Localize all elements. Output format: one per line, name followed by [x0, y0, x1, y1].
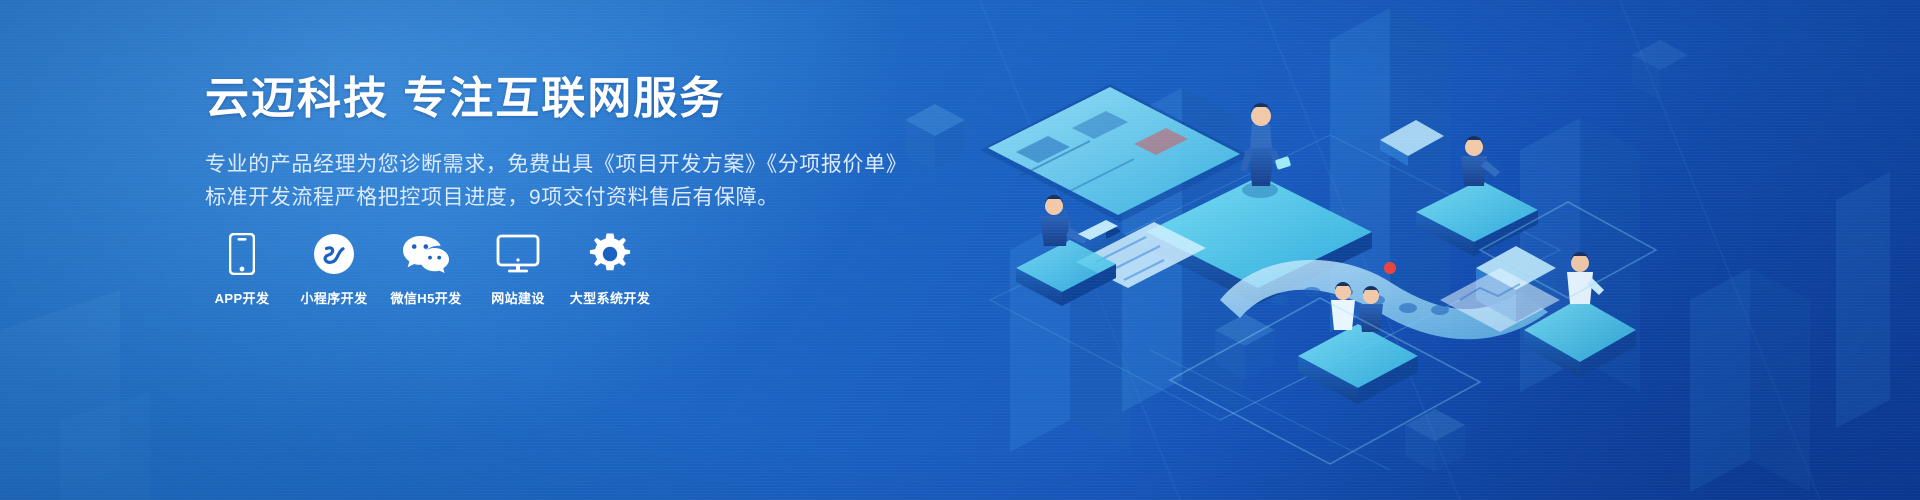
service-label-app: APP开发 — [215, 288, 270, 307]
hero-illustration — [920, 0, 1920, 500]
service-item-app[interactable]: APP开发 — [205, 232, 279, 307]
service-item-website[interactable]: 网站建设 — [481, 232, 555, 307]
service-item-mini-program[interactable]: 小程序开发 — [297, 232, 371, 307]
hero-banner: 云迈科技 专注互联网服务 专业的产品经理为您诊断需求，免费出具《项目开发方案》《… — [0, 0, 1920, 500]
monitor-glyph — [496, 234, 540, 274]
monitor-icon — [496, 232, 540, 276]
service-item-system[interactable]: 大型系统开发 — [573, 232, 647, 307]
mobile-phone-icon — [229, 232, 255, 276]
service-label-wechat-h5: 微信H5开发 — [390, 288, 461, 307]
tablet-device — [1380, 120, 1444, 166]
right-platform-person — [1416, 136, 1538, 256]
mini-program-icon — [313, 232, 355, 276]
subtitle-line-2: 标准开发流程严格把控项目进度，9项交付资料售后有保障。 — [205, 181, 965, 214]
service-label-system: 大型系统开发 — [570, 288, 650, 307]
subtitle-line-1: 专业的产品经理为您诊断需求，免费出具《项目开发方案》《分项报价单》 — [205, 148, 965, 181]
service-item-wechat[interactable]: 微信H5开发 — [389, 232, 463, 307]
wechat-icon — [402, 232, 450, 276]
gear-glyph — [589, 233, 631, 275]
service-label-website: 网站建设 — [491, 288, 545, 307]
mini-program-glyph — [313, 233, 355, 275]
isometric-scene-svg — [920, 0, 1920, 500]
banner-subtitle: 专业的产品经理为您诊断需求，免费出具《项目开发方案》《分项报价单》 标准开发流程… — [205, 148, 965, 214]
service-list: APP开发 小程序开发 微信 — [205, 232, 665, 307]
wechat-glyph — [402, 234, 450, 274]
page-title: 云迈科技 专注互联网服务 — [205, 72, 965, 126]
mobile-phone-glyph — [229, 233, 255, 275]
service-label-mini-program: 小程序开发 — [300, 288, 367, 307]
banner-copy: 云迈科技 专注互联网服务 专业的产品经理为您诊断需求，免费出具《项目开发方案》《… — [205, 72, 965, 214]
gear-icon — [589, 232, 631, 276]
